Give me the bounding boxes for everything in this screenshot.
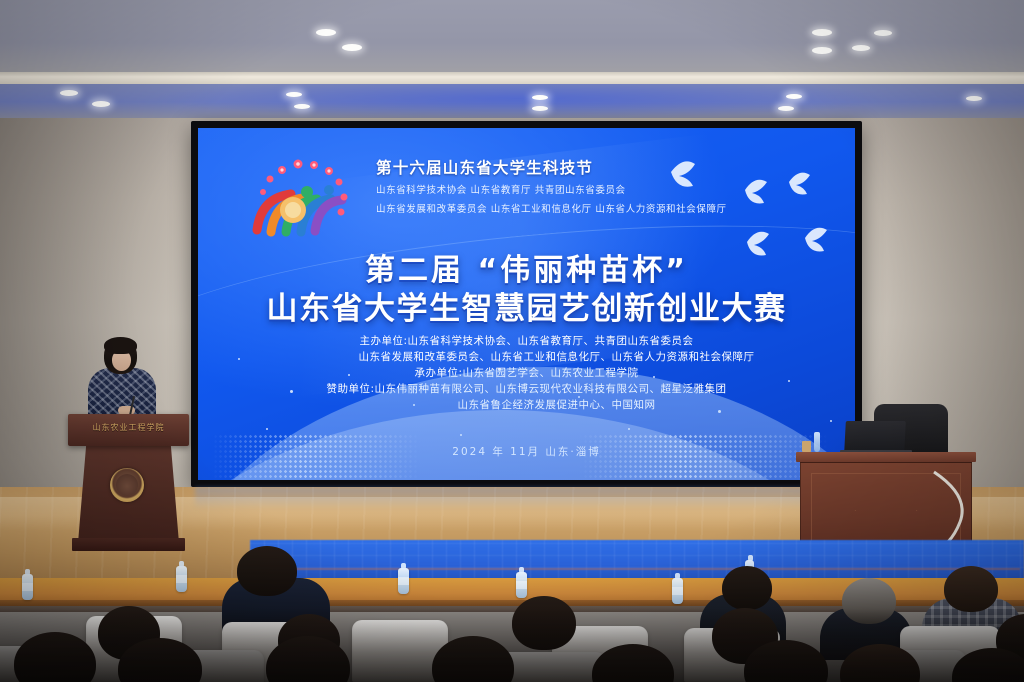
audience-area (0, 560, 1024, 682)
audience-head (14, 632, 96, 682)
led-screen-bezel: 第十六届山东省大学生科技节 山东省科学技术协会 山东省教育厅 共青团山东省委员会… (191, 121, 862, 487)
festival-title: 第十六届山东省大学生科技节 (376, 156, 593, 178)
university-crest-icon (110, 468, 144, 502)
competition-title-line-2: 山东省大学生智慧园艺创新创业大赛 (198, 283, 855, 328)
laptop-screen (844, 421, 906, 453)
ceiling-light-cove (0, 72, 1024, 84)
audience-head (944, 566, 998, 612)
podium-base (72, 538, 185, 551)
science-festival-logo (241, 152, 359, 256)
audience-head (237, 546, 297, 596)
podium-top: 山东农业工程学院 (68, 414, 189, 446)
festival-sub-line-2: 山东省发展和改革委员会 山东省工业和信息化厅 山东省人力资源和社会保障厅 (376, 201, 727, 215)
podium-engraved-text: 山东农业工程学院 (68, 422, 189, 433)
audience-head (842, 578, 896, 624)
speaker-hair (104, 337, 137, 354)
audience-head (722, 566, 772, 610)
audience-head (512, 596, 576, 650)
screen-pixel-dots (198, 434, 855, 480)
conference-hall-photo: 第十六届山东省大学生科技节 山东省科学技术协会 山东省教育厅 共青团山东省委员会… (0, 0, 1024, 682)
desk-water-bottle (814, 432, 820, 452)
screen-reflection-on-floor (195, 487, 855, 509)
desk-cup (802, 441, 811, 452)
festival-sub-line-1: 山东省科学技术协会 山东省教育厅 共青团山东省委员会 (376, 182, 626, 196)
ceiling-lower-panel (0, 84, 1024, 120)
ceiling-upper-panel (0, 0, 1024, 78)
organizer-line: 主办单位:山东省科学技术协会、山东省教育厅、共青团山东省委员会 (198, 333, 855, 349)
control-desk-top (796, 452, 976, 462)
audience-chair (500, 652, 606, 682)
organizer-line: 山东省发展和改革委员会、山东省工业和信息化厅、山东省人力资源和社会保障厅 (198, 349, 855, 365)
led-screen-display: 第十六届山东省大学生科技节 山东省科学技术协会 山东省教育厅 共青团山东省委员会… (198, 128, 855, 480)
